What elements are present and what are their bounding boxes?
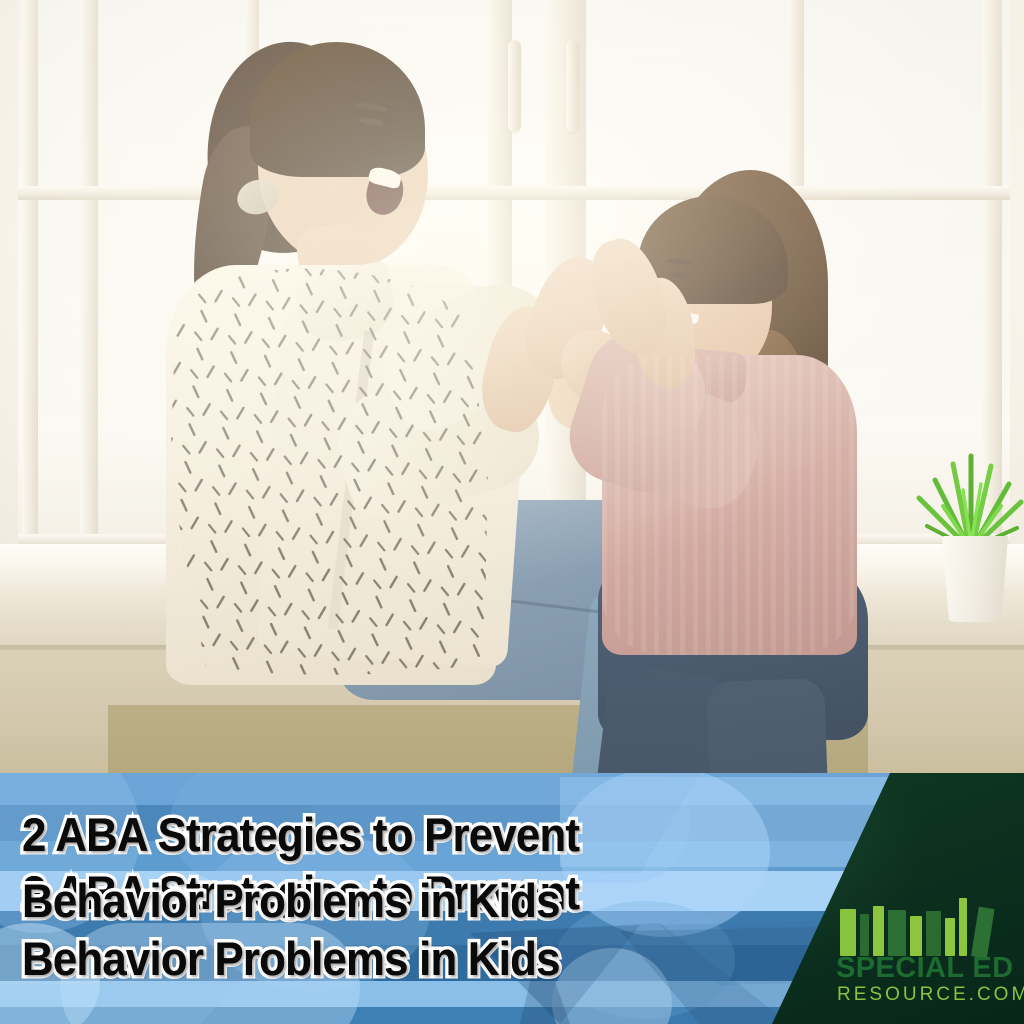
logo-primary-text: SPECIAL ED [836,952,1022,984]
sweater-rib-texture [602,355,857,655]
title-line-2-outline: Behavior Problems in Kids [22,872,729,930]
book-spine-4 [888,910,906,956]
book-spine-8 [959,898,967,956]
shirt-dash-pattern [166,265,506,685]
book-spine-2 [860,914,869,956]
title-line-2: Behavior Problems in Kids [22,930,729,988]
brand-logo[interactable]: SPECIAL ED RESOURCE.COM [828,896,1020,1020]
person-girl [560,160,920,800]
title-line-1-outline: 2 ABA Strategies to Prevent [22,806,729,864]
logo-secondary-text: RESOURCE.COM [837,984,1024,1006]
book-spine-7 [945,918,955,956]
window-frame-vertical-1 [22,0,38,562]
person-woman [150,30,610,790]
plant-foliage [905,440,1024,550]
plant-pot [939,536,1011,622]
book-spine-9 [971,907,995,959]
book-spine-5 [910,916,922,956]
book-spines-icon [840,896,1012,956]
book-spine-6 [926,911,941,956]
potted-plant [905,440,1024,620]
window-frame-vertical-2 [80,0,98,562]
book-spine-1 [840,909,856,956]
graphic-canvas: 2 ABA Strategies to Prevent 2 ABA Strate… [0,0,1024,1024]
banner-title: 2 ABA Strategies to Prevent 2 ABA Strate… [22,806,782,930]
book-spine-3 [873,906,884,956]
